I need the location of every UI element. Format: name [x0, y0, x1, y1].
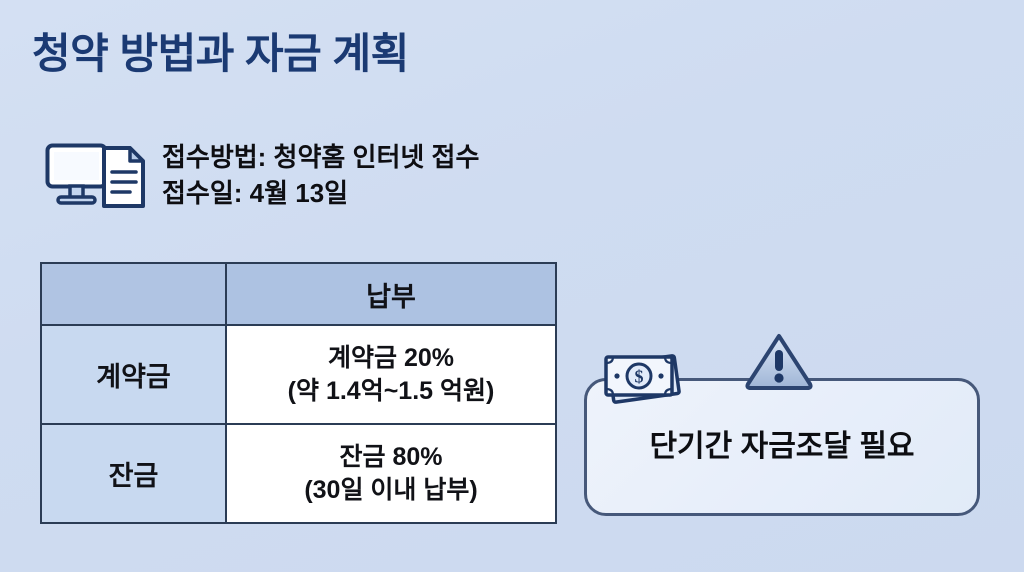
reception-info-lines: 접수방법: 청약홈 인터넷 접수 접수일: 4월 13일	[162, 138, 479, 211]
warning-triangle-icon	[742, 330, 816, 392]
value-line-2: (30일 이내 납부)	[227, 474, 555, 507]
table-row: 잔금 잔금 80% (30일 이내 납부)	[41, 424, 556, 523]
value-line-1: 잔금 80%	[227, 441, 555, 474]
payment-schedule-table: 납부 계약금 계약금 20% (약 1.4억~1.5 억원) 잔금 잔금 80%…	[40, 262, 557, 524]
row-label-balance: 잔금	[41, 424, 226, 523]
row-value-downpayment: 계약금 20% (약 1.4억~1.5 억원)	[226, 325, 556, 424]
svg-text:$: $	[635, 367, 644, 387]
row-label-downpayment: 계약금	[41, 325, 226, 424]
money-banknote-icon: $	[598, 348, 690, 410]
value-line-2: (약 1.4억~1.5 억원)	[227, 375, 555, 408]
table-row: 계약금 계약금 20% (약 1.4억~1.5 억원)	[41, 325, 556, 424]
monitor-document-icon	[44, 138, 148, 212]
row-value-balance: 잔금 80% (30일 이내 납부)	[226, 424, 556, 523]
table-header-blank	[41, 263, 226, 325]
page-title: 청약 방법과 자금 계획	[32, 20, 409, 81]
table-header-payment: 납부	[226, 263, 556, 325]
table-header-row: 납부	[41, 263, 556, 325]
reception-method-line: 접수방법: 청약홈 인터넷 접수	[162, 140, 479, 176]
reception-info-block: 접수방법: 청약홈 인터넷 접수 접수일: 4월 13일	[44, 138, 479, 212]
funding-callout-text: 단기간 자금조달 필요	[649, 421, 914, 465]
value-line-1: 계약금 20%	[227, 342, 555, 375]
reception-date-line: 접수일: 4월 13일	[162, 176, 479, 212]
